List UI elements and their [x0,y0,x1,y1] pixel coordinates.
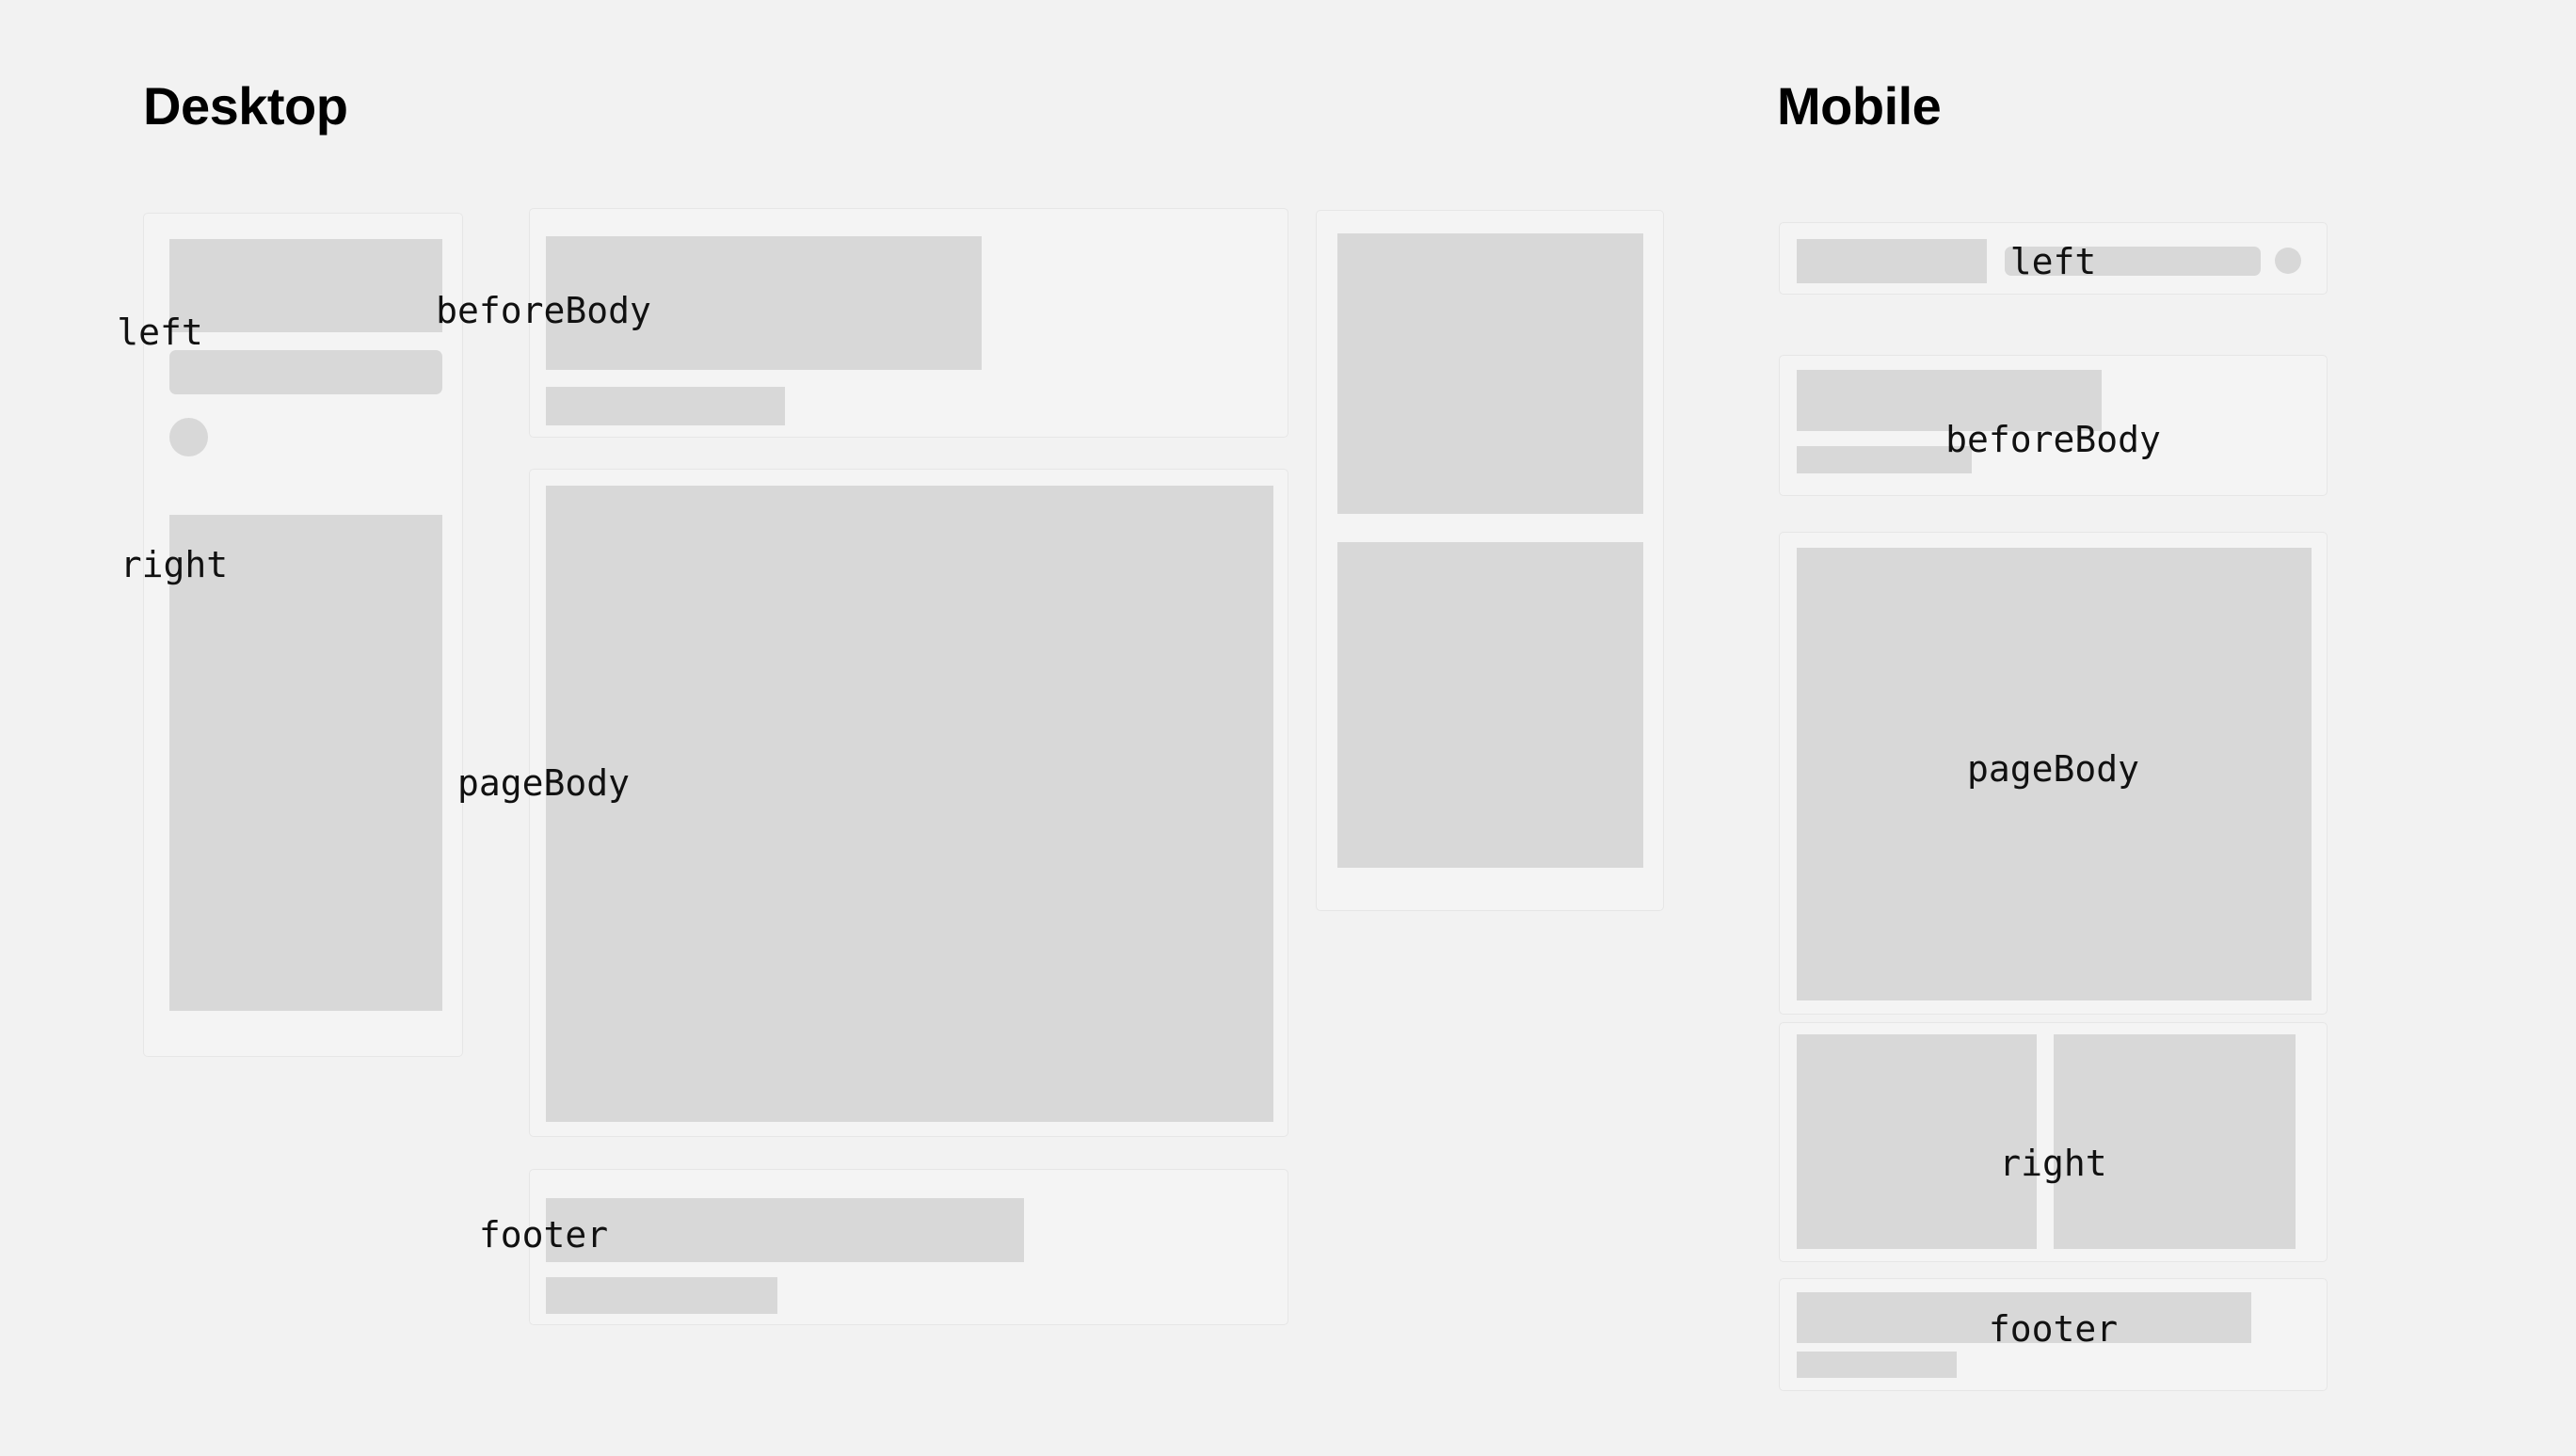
mobile-left-placeholder-bar-b [2005,247,2261,276]
mobile-footer-placeholder-bar-a [1797,1292,2251,1343]
mobile-region-pagebody[interactable] [1779,532,2328,1015]
desktop-left-placeholder-dot-c [169,418,208,456]
desktop-region-beforebody[interactable] [529,208,1288,438]
desktop-region-right[interactable] [1316,210,1664,911]
desktop-region-pagebody[interactable] [529,469,1288,1137]
desktop-pagebody-placeholder-block-a [546,486,1273,1122]
desktop-footer-placeholder-bar-a [546,1198,1024,1262]
mobile-column-title: Mobile [1777,75,1941,136]
mobile-beforebody-placeholder-block-a [1797,370,2102,431]
desktop-right-placeholder-block-b [1337,542,1643,868]
mobile-right-placeholder-block-a [1797,1034,2037,1249]
mobile-pagebody-placeholder-block-a [1797,548,2312,1000]
desktop-region-left[interactable] [143,213,463,1057]
mobile-region-beforebody[interactable] [1779,355,2328,496]
mobile-region-right[interactable] [1779,1022,2328,1262]
desktop-left-placeholder-block-a [169,239,442,332]
desktop-beforebody-placeholder-block-a [546,236,982,370]
desktop-column-title: Desktop [143,75,347,136]
mobile-left-placeholder-dot-c [2275,248,2301,274]
desktop-region-footer[interactable] [529,1169,1288,1325]
mobile-beforebody-placeholder-bar-b [1797,446,1972,473]
desktop-beforebody-placeholder-bar-b [546,387,785,425]
mobile-region-footer[interactable] [1779,1278,2328,1391]
desktop-left-placeholder-bar-b [169,350,442,394]
mobile-region-left[interactable] [1779,222,2328,295]
desktop-left-placeholder-block-d [169,515,442,1011]
mobile-left-placeholder-block-a [1797,239,1987,283]
desktop-right-placeholder-block-a [1337,233,1643,514]
mobile-right-placeholder-block-b [2054,1034,2296,1249]
mobile-footer-placeholder-bar-b [1797,1352,1957,1378]
desktop-footer-placeholder-bar-b [546,1277,777,1314]
